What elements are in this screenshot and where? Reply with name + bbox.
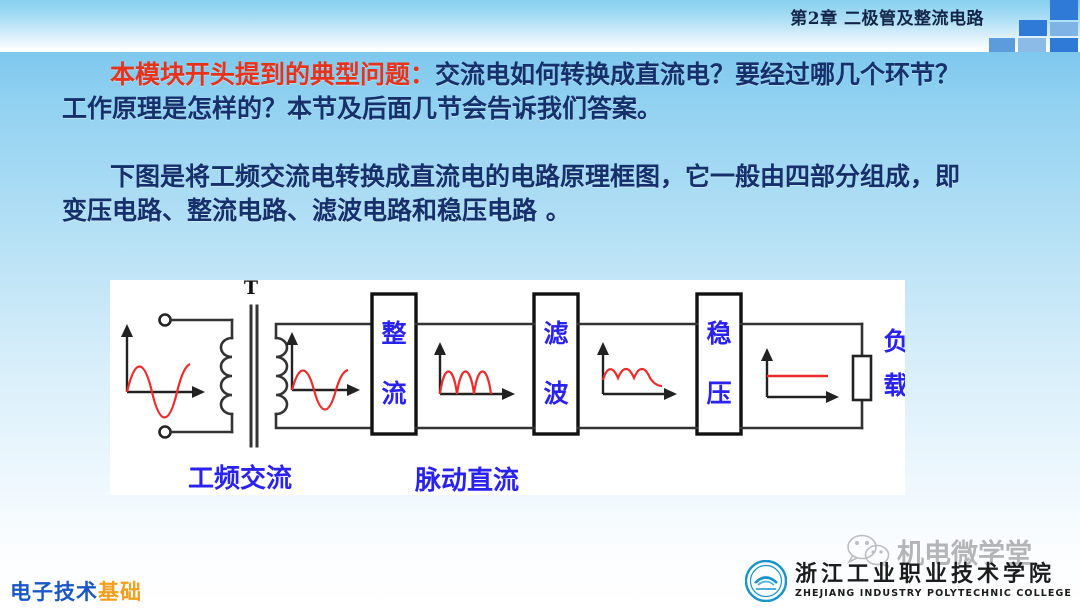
school-emblem-icon: [745, 560, 787, 602]
block-rectifier-label-2: 流: [381, 379, 406, 408]
school-name-group: 浙江工业职业技术学院 ZHEJIANG INDUSTRY POLYTECHNIC…: [795, 563, 1072, 599]
transformer-secondary-coil: [276, 338, 287, 414]
block-regulator-label-2: 压: [706, 379, 731, 408]
paragraph-question: 本模块开头提到的典型问题：交流电如何转换成直流电？要经过哪几个环节？工作原理是怎…: [62, 58, 962, 126]
ac-terminal-top: [160, 315, 171, 326]
waveform-secondary-sine: [286, 332, 360, 410]
paragraph-description-body: 下图是将工频交流电转换成直流电的电路原理框图，它一般由四部分组成，即变压电路、整…: [62, 162, 960, 225]
load-label-1: 负: [883, 327, 905, 356]
school-logo: 浙江工业职业技术学院 ZHEJIANG INDUSTRY POLYTECHNIC…: [745, 558, 1072, 604]
school-name-cn: 浙江工业职业技术学院: [795, 563, 1072, 585]
waveform-rectified: [434, 342, 515, 400]
block-rectifier-label-1: 整: [381, 319, 406, 348]
block-diagram-panel: T 整 流 滤 波 稳 压 负 载 工频交流 脉动直流: [110, 280, 905, 495]
block-rectifier: [372, 294, 416, 434]
deco-square-1: [1050, 0, 1078, 20]
caption-mains-ac: 工频交流: [188, 463, 292, 494]
block-regulator-label-1: 稳: [706, 319, 731, 348]
course-logo-part2: 基础: [98, 579, 142, 604]
deco-square-3: [1019, 20, 1047, 36]
wire-secondary-bottom: [276, 414, 372, 428]
deco-square-6: [1050, 38, 1078, 52]
load-label-2: 载: [883, 371, 905, 400]
caption-pulsating-dc: 脉动直流: [415, 466, 519, 495]
transformer-label: T: [244, 280, 258, 299]
block-regulator: [697, 294, 741, 434]
chapter-title: 第2章 二极管及整流电路: [790, 4, 984, 29]
paragraph-description: 下图是将工频交流电转换成直流电的电路原理框图，它一般由四部分组成，即变压电路、整…: [62, 160, 962, 228]
deco-square-5: [1018, 38, 1046, 52]
waveform-ripple: [597, 342, 677, 400]
block-filter-label-1: 滤: [543, 319, 568, 348]
waveform-primary-sine: [121, 324, 205, 418]
transformer-primary-coil: [221, 338, 232, 414]
deco-square-4: [989, 38, 1015, 52]
block-filter: [534, 294, 578, 434]
course-logo-part1: 电子技术: [10, 579, 98, 604]
waveform-dc-flat: [761, 348, 839, 403]
paragraph-question-emphasis: 本模块开头提到的典型问题：: [110, 60, 435, 89]
header-decoration-squares: [1016, 0, 1080, 52]
load-resistor: [853, 356, 871, 400]
slide-canvas: 第2章 二极管及整流电路 本模块开头提到的典型问题：交流电如何转换成直流电？要经…: [0, 0, 1080, 608]
block-filter-label-2: 波: [543, 379, 569, 408]
ac-terminal-bottom: [160, 427, 171, 438]
deco-square-2: [1050, 22, 1078, 36]
course-logo: 电子技术基础: [10, 576, 142, 606]
school-name-en: ZHEJIANG INDUSTRY POLYTECHNIC COLLEGE: [795, 589, 1072, 599]
